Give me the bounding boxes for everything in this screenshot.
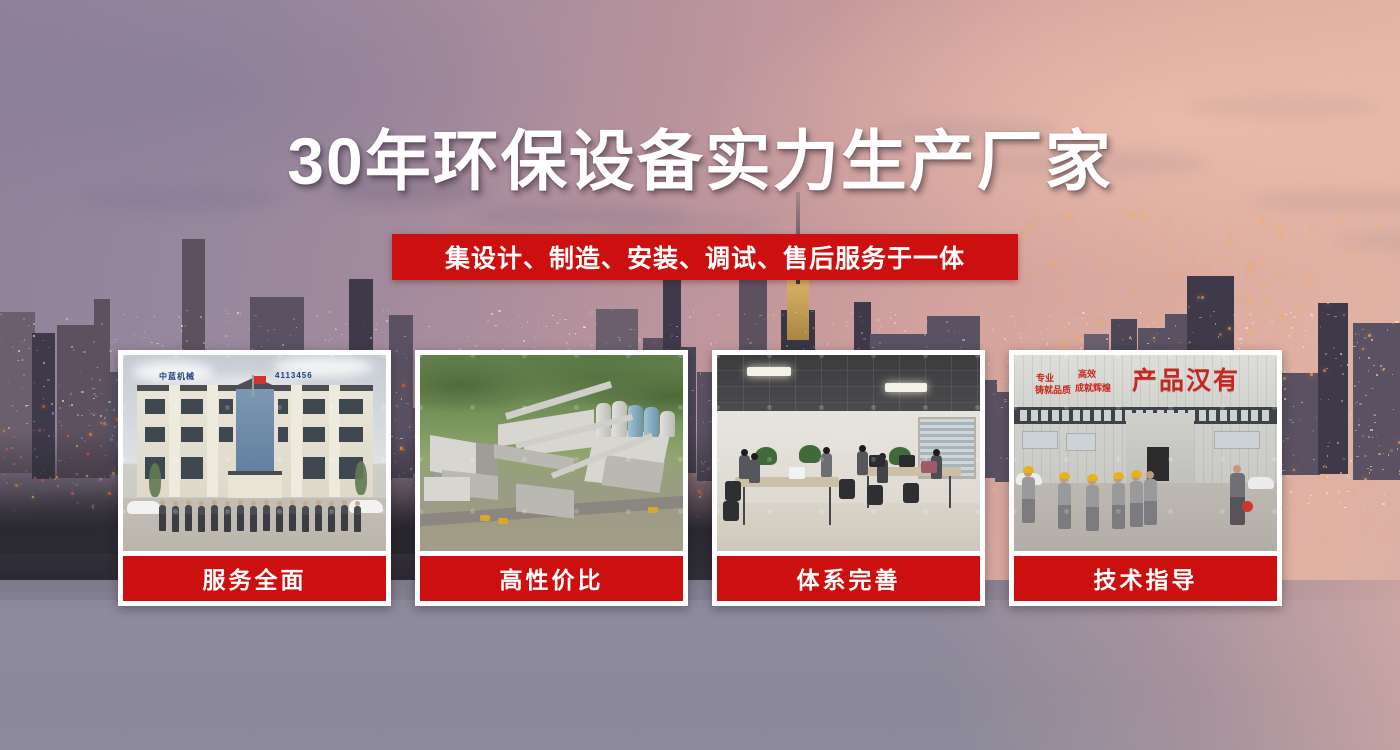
staff-figure	[224, 506, 231, 532]
worker-figure	[1058, 483, 1071, 529]
cloud	[1180, 95, 1380, 119]
feature-card[interactable]: 产品汉有 专业 铸就品质 高效 成就辉煌	[1009, 350, 1282, 606]
card-label: 技术指导	[1014, 556, 1277, 601]
staff-figure	[289, 505, 296, 531]
card-label: 高性价比	[420, 556, 683, 601]
factory-signage-text: 产品汉有	[1132, 361, 1240, 397]
banner-stage: 30年环保设备实力生产厂家 集设计、制造、安装、调试、售后服务于一体	[0, 0, 1400, 750]
building-signage-text: 中蓝机械	[159, 371, 195, 382]
card-photo-industrial-plant	[420, 355, 683, 551]
factory-signage-small: 成就辉煌	[1070, 383, 1116, 394]
staff-figure	[198, 506, 205, 532]
worker-figure	[1144, 479, 1157, 525]
staff-figure	[328, 506, 335, 532]
factory-signage-small: 高效	[1078, 369, 1096, 380]
feature-card-row: 中蓝机械 4113456 服务全面	[118, 350, 1282, 606]
card-photo-workers-factory: 产品汉有 专业 铸就品质 高效 成就辉煌	[1014, 355, 1277, 551]
card-photo-office-interior	[717, 355, 980, 551]
staff-figure	[263, 505, 270, 531]
feature-card[interactable]: 体系完善	[712, 350, 985, 606]
card-label: 服务全面	[123, 556, 386, 601]
feature-card[interactable]: 中蓝机械 4113456 服务全面	[118, 350, 391, 606]
building-phone-number: 4113456	[275, 371, 313, 380]
card-label: 体系完善	[717, 556, 980, 601]
staff-figure	[302, 506, 309, 532]
staff-figure	[276, 506, 283, 532]
cloud	[600, 215, 780, 233]
feature-card[interactable]: 高性价比	[415, 350, 688, 606]
worker-figure	[1112, 483, 1125, 529]
factory-signage-small: 专业	[1036, 373, 1054, 384]
worker-figure	[1086, 485, 1099, 531]
staff-figure	[341, 505, 348, 531]
staff-figure	[315, 505, 322, 531]
tower-lit-crown	[787, 280, 809, 340]
worker-figure	[1022, 477, 1035, 523]
staff-figure	[211, 505, 218, 531]
worker-figure	[1130, 481, 1143, 527]
staff-figure	[354, 506, 361, 532]
staff-figure	[172, 506, 179, 532]
banner-headline: 30年环保设备实力生产厂家	[0, 128, 1400, 194]
staff-figure	[250, 506, 257, 532]
staff-figure	[237, 505, 244, 531]
card-photo-headquarters: 中蓝机械 4113456	[123, 355, 386, 551]
staff-figure	[159, 505, 166, 531]
banner-subtitle-text: 集设计、制造、安装、调试、售后服务于一体	[445, 239, 965, 275]
staff-figure	[185, 505, 192, 531]
banner-subtitle-bar: 集设计、制造、安装、调试、售后服务于一体	[392, 234, 1018, 280]
